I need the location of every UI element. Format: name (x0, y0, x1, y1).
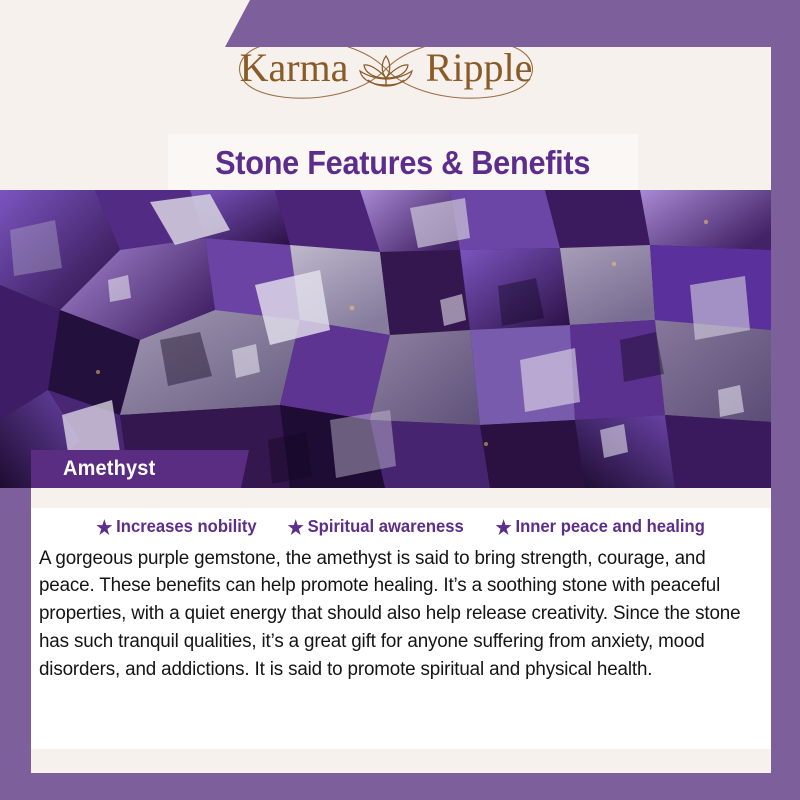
stone-description: A gorgeous purple gemstone, the amethyst… (39, 545, 749, 684)
stone-details-panel: ★ Increases nobility ★ Spiritual awarene… (31, 508, 771, 749)
brand-name-right: Ripple (425, 45, 532, 90)
benefit-label: Increases nobility (116, 518, 256, 536)
star-icon: ★ (287, 519, 302, 535)
photo-caption-gap (31, 488, 771, 508)
frame-bottom-inner (31, 751, 771, 773)
stone-name-label: Amethyst (63, 457, 155, 481)
benefits-list: ★ Increases nobility ★ Spiritual awarene… (31, 508, 771, 536)
frame-left-bar (0, 488, 31, 800)
page-title: Stone Features & Benefits (215, 146, 590, 179)
star-icon: ★ (495, 519, 510, 535)
amethyst-crystal-cluster (0, 190, 771, 488)
stone-photo (0, 190, 771, 488)
frame-bottom-bar (0, 773, 800, 800)
benefit-item-1: ★ Spiritual awareness (287, 518, 463, 536)
frame-top-bar (225, 0, 800, 47)
benefit-item-2: ★ Inner peace and healing (495, 518, 704, 536)
product-info-poster: Karma Ripple Stone Features & Benefits (0, 0, 800, 800)
stone-name-banner: Amethyst (31, 450, 249, 488)
star-icon: ★ (96, 519, 111, 535)
benefit-item-0: ★ Increases nobility (96, 518, 256, 536)
benefit-label: Inner peace and healing (515, 518, 704, 536)
benefit-label: Spiritual awareness (307, 518, 463, 536)
page-title-plate: Stone Features & Benefits (168, 134, 638, 190)
brand-name-left: Karma (239, 45, 348, 90)
frame-right-bar (771, 0, 800, 800)
lotus-icon (360, 56, 412, 86)
